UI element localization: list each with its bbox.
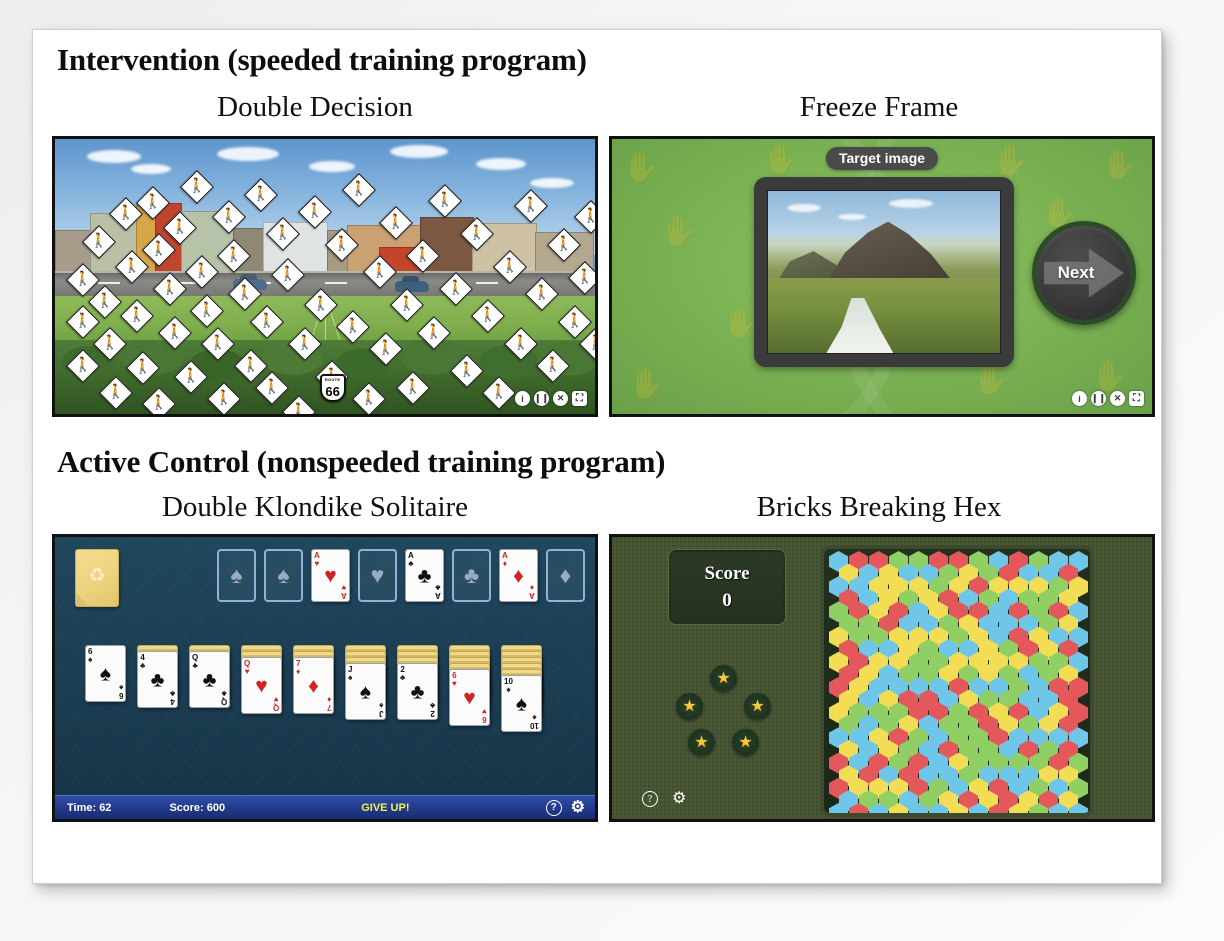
card-rank-corner: A♣	[408, 552, 414, 567]
card-rank-corner: A♦	[529, 584, 535, 599]
dd-control-cluster[interactable]: i ❙❙ ✕ ⛶	[515, 391, 587, 406]
card-rank-corner: 7♦	[296, 660, 300, 675]
tableau-card[interactable]: 4♣♣4♣	[137, 651, 178, 708]
route-66-top-text: ROUTE	[325, 377, 341, 382]
hand-icon: ✋	[628, 370, 665, 400]
pedestrian-icon: 🚶	[263, 381, 280, 395]
suit-icon: ♠	[230, 563, 242, 589]
star-badge-icon[interactable]: ★	[688, 729, 715, 756]
card-rank-corner: A♥	[341, 584, 347, 599]
card-rank-corner: J♠	[379, 702, 383, 717]
hand-icon: ✋	[762, 145, 799, 175]
bricks-icon-row: ? ⚙	[642, 791, 686, 807]
pause-icon[interactable]: ❙❙	[1091, 391, 1106, 406]
suit-icon: ♥	[371, 563, 385, 589]
star-badge-icon[interactable]: ★	[744, 693, 771, 720]
pedestrian-icon: 🚶	[512, 337, 529, 351]
pedestrian-icon: 🚶	[96, 295, 113, 309]
foundation-slot[interactable]: ♣	[452, 549, 491, 602]
card-rank-corner: 6♠	[88, 648, 92, 663]
foundation-card[interactable]: A♦♦A♦	[499, 549, 538, 602]
pedestrian-icon: 🚶	[312, 298, 329, 312]
card-pip: ♠	[516, 693, 527, 714]
pedestrian-icon: 🚶	[258, 315, 275, 329]
target-image-frame	[754, 177, 1014, 367]
card-rank-corner: 4♣	[170, 690, 175, 705]
suit-icon: ♦	[560, 563, 572, 589]
stock-pile-icon: ♻	[88, 564, 105, 587]
figure-card: Intervention (speeded training program) …	[32, 29, 1162, 884]
pedestrian-icon: 🚶	[193, 265, 210, 279]
score-label: Score	[704, 563, 749, 585]
card-pip: ♣	[151, 669, 165, 690]
card-pip: ♥	[463, 687, 475, 708]
star-glyph: ★	[738, 735, 752, 751]
tableau-card[interactable]: 6♥♥6♥	[449, 669, 490, 726]
freeze-frame-screenshot[interactable]: ✋ ✋ ✋ ✋ ✋ ✋ ✋ ✋ ✋ ✋ Target image	[609, 136, 1155, 417]
tableau-card[interactable]: 10♠♠10♠	[501, 675, 542, 732]
fullscreen-icon[interactable]: ⛶	[1129, 391, 1144, 406]
pedestrian-icon: 🚶	[172, 221, 189, 235]
pedestrian-icon: 🚶	[371, 265, 388, 279]
pedestrian-icon: 🚶	[415, 249, 432, 263]
close-icon[interactable]: ✕	[553, 391, 568, 406]
route-66-number: 66	[325, 384, 339, 399]
pedestrian-icon: 🚶	[150, 397, 167, 411]
pedestrian-icon: 🚶	[523, 199, 540, 213]
time-label: Time: 62	[55, 802, 111, 814]
star-badge-icon[interactable]: ★	[710, 665, 737, 692]
pedestrian-icon: 🚶	[118, 207, 135, 221]
foundation-slot[interactable]: ♠	[217, 549, 256, 602]
pedestrian-icon: 🚶	[290, 405, 307, 417]
pedestrian-icon: 🚶	[388, 216, 405, 230]
game-title-double-klondike-solitaire: Double Klondike Solitaire	[33, 492, 597, 522]
pedestrian-icon: 🚶	[188, 180, 205, 194]
pedestrian-icon: 🚶	[425, 326, 442, 340]
pedestrian-icon: 🚶	[128, 309, 145, 323]
route-66-shield: ROUTE 66	[320, 374, 346, 402]
pedestrian-icon: 🚶	[161, 282, 178, 296]
target-image-label: Target image	[826, 147, 938, 170]
pedestrian-icon: 🚶	[350, 183, 367, 197]
pedestrian-icon: 🚶	[91, 235, 108, 249]
score-panel: Score 0	[668, 549, 786, 625]
next-button-label: Next	[1058, 263, 1111, 283]
pedestrian-icon: 🚶	[166, 326, 183, 340]
tableau-card[interactable]: 2♣♣2♣	[397, 663, 438, 720]
pedestrian-icon: 🚶	[577, 271, 594, 285]
suit-icon: ♠	[277, 563, 289, 589]
pedestrian-icon: 🚶	[479, 309, 496, 323]
tableau-card[interactable]: 6♠♠6♠	[85, 645, 126, 702]
pedestrian-icon: 🚶	[458, 364, 475, 378]
star-badge-icon[interactable]: ★	[676, 693, 703, 720]
gear-icon[interactable]: ⚙	[571, 800, 585, 816]
info-icon[interactable]: i	[515, 391, 530, 406]
tableau-card[interactable]: Q♥♥Q♥	[241, 657, 282, 714]
pedestrian-icon: 🚶	[296, 337, 313, 351]
card-rank-corner: 4♣	[140, 654, 145, 669]
pedestrian-icon: 🚶	[404, 381, 421, 395]
pedestrian-icon: 🚶	[582, 210, 598, 224]
pedestrian-icon: 🚶	[280, 268, 297, 282]
pedestrian-icon: 🚶	[101, 337, 118, 351]
hand-icon: ✋	[992, 147, 1029, 177]
star-glyph: ★	[682, 699, 696, 715]
pedestrian-icon: 🚶	[447, 282, 464, 296]
pedestrian-icon: 🚶	[274, 227, 291, 241]
star-glyph: ★	[694, 735, 708, 751]
card-rank-corner: Q♥	[244, 660, 250, 675]
pause-icon[interactable]: ❙❙	[534, 391, 549, 406]
pedestrian-icon: 🚶	[145, 196, 162, 210]
card-rank-corner: A♦	[502, 552, 508, 567]
game-title-double-decision: Double Decision	[33, 92, 597, 122]
next-button[interactable]: Next	[1032, 221, 1136, 325]
card-rank-corner: J♠	[348, 666, 352, 681]
pedestrian-icon: 🚶	[220, 210, 237, 224]
pedestrian-icon: 🚶	[469, 227, 486, 241]
solitaire-status-icons: ? ⚙	[546, 800, 595, 816]
pedestrian-icon: 🚶	[182, 370, 199, 384]
card-rank-corner: Q♣	[221, 690, 227, 705]
section-heading-active-control: Active Control (nonspeeded training prog…	[33, 444, 1161, 480]
card-pip: ♠	[360, 681, 371, 702]
pedestrian-icon: 🚶	[566, 315, 583, 329]
pedestrian-icon: 🚶	[74, 359, 91, 373]
pedestrian-icon: 🚶	[307, 205, 324, 219]
score-label: Score: 600	[111, 802, 225, 814]
pedestrian-icon: 🚶	[587, 337, 598, 351]
game-title-bricks-breaking-hex: Bricks Breaking Hex	[597, 492, 1161, 522]
pedestrian-icon: 🚶	[123, 260, 140, 274]
dd-car-right	[395, 281, 429, 292]
card-pip: ♣	[203, 669, 217, 690]
card-pip: ♥	[324, 565, 336, 586]
score-value: 0	[722, 590, 732, 612]
target-photo	[767, 190, 1001, 354]
pedestrian-icon: 🚶	[74, 315, 91, 329]
foundation-card[interactable]: A♥♥A♥	[311, 549, 350, 602]
pedestrian-icon: 🚶	[555, 238, 572, 252]
star-badge-icon[interactable]: ★	[732, 729, 759, 756]
pedestrian-icon: 🚶	[74, 273, 91, 287]
card-rank-corner: 2♣	[400, 666, 405, 681]
pedestrian-icon: 🚶	[215, 392, 232, 406]
pedestrian-icon: 🚶	[134, 361, 151, 375]
card-pip: ♣	[418, 565, 432, 586]
card-pip: ♥	[255, 675, 267, 696]
foundation-card[interactable]: A♣♣A♣	[405, 549, 444, 602]
section-heading-intervention: Intervention (speeded training program)	[33, 42, 1161, 78]
give-up-button[interactable]: GIVE UP!	[361, 802, 409, 814]
help-icon[interactable]: ?	[546, 800, 562, 816]
pedestrian-icon: 🚶	[344, 320, 361, 334]
solitaire-screenshot[interactable]: ♻ ♠♠A♥♥A♥♥A♣♣A♣♣A♦♦A♦♦ 6♠♠6♠4♣♣4♣Q♣♣Q♣Q♥…	[52, 534, 598, 822]
star-glyph: ★	[750, 699, 764, 715]
card-rank-corner: Q♣	[192, 654, 198, 669]
pedestrian-icon: 🚶	[533, 287, 550, 301]
hand-icon: ✋	[660, 217, 697, 247]
foundation-slot[interactable]: ♦	[546, 549, 585, 602]
info-icon[interactable]: i	[1072, 391, 1087, 406]
tableau-card[interactable]: 7♦♦7♦	[293, 657, 334, 714]
hand-icon: ✋	[622, 153, 659, 183]
double-decision-screenshot[interactable]: 🚶🚶🚶🚶🚶🚶🚶🚶🚶🚶🚶🚶🚶🚶🚶🚶🚶🚶🚶🚶🚶🚶🚶🚶🚶🚶🚶🚶🚶🚶🚶🚶🚶🚶🚶🚶🚶🚶🚶🚶…	[52, 136, 598, 417]
hand-icon: ✋	[972, 366, 1009, 396]
figure-page: Intervention (speeded training program) …	[0, 0, 1224, 941]
card-rank-corner: 6♥	[452, 672, 457, 687]
pedestrian-icon: 🚶	[150, 243, 167, 257]
pedestrian-icon: 🚶	[199, 304, 216, 318]
card-rank-corner: 6♥	[482, 708, 487, 723]
card-rank-corner: A♣	[435, 584, 441, 599]
card-rank-corner: 2♣	[430, 702, 435, 717]
pedestrian-icon: 🚶	[253, 188, 270, 202]
help-icon[interactable]: ?	[642, 791, 658, 807]
pedestrian-icon: 🚶	[436, 194, 453, 208]
gear-icon[interactable]: ⚙	[672, 791, 686, 807]
ff-control-cluster[interactable]: i ❙❙ ✕ ⛶	[1072, 391, 1144, 406]
pedestrian-icon: 🚶	[490, 386, 507, 400]
fullscreen-icon[interactable]: ⛶	[572, 391, 587, 406]
card-pip: ♣	[411, 681, 425, 702]
solitaire-status-bar: Time: 62 Score: 600 GIVE UP! ? ⚙	[55, 795, 595, 819]
card-rank-corner: 7♦	[327, 696, 331, 711]
pedestrian-icon: 🚶	[242, 359, 259, 373]
card-rank-corner: 10♠	[530, 714, 539, 729]
stock-pile[interactable]: ♻	[75, 549, 119, 607]
pedestrian-icon: 🚶	[209, 337, 226, 351]
pedestrian-icon: 🚶	[107, 386, 124, 400]
tableau-card[interactable]: J♠♠J♠	[345, 663, 386, 720]
pedestrian-icon: 🚶	[334, 238, 351, 252]
foundation-slot[interactable]: ♥	[358, 549, 397, 602]
pedestrian-icon: 🚶	[226, 249, 243, 263]
pedestrian-icon: 🚶	[544, 359, 561, 373]
pedestrian-icon: 🚶	[398, 298, 415, 312]
pedestrian-icon: 🚶	[377, 342, 394, 356]
hand-icon: ✋	[1101, 151, 1138, 181]
card-rank-corner: Q♥	[273, 696, 279, 711]
card-pip: ♦	[308, 675, 319, 696]
pedestrian-icon: 🚶	[236, 287, 253, 301]
foundation-slot[interactable]: ♠	[264, 549, 303, 602]
hex-game-board[interactable]	[820, 545, 1094, 817]
card-rank-corner: 6♠	[119, 684, 123, 699]
bricks-breaking-hex-screenshot[interactable]: Score 0 ★★★★★ ? ⚙	[609, 534, 1155, 822]
card-rank-corner: A♥	[314, 552, 320, 567]
suit-icon: ♣	[464, 563, 479, 589]
game-title-freeze-frame: Freeze Frame	[597, 92, 1161, 122]
pedestrian-icon: 🚶	[501, 260, 518, 274]
card-rank-corner: 10♠	[504, 678, 513, 693]
pedestrian-icon: 🚶	[361, 392, 378, 406]
card-pip: ♠	[100, 663, 111, 684]
close-icon[interactable]: ✕	[1110, 391, 1125, 406]
card-pip: ♦	[513, 565, 524, 586]
hand-icon: ✋	[1091, 362, 1128, 392]
tableau-card[interactable]: Q♣♣Q♣	[189, 651, 230, 708]
star-glyph: ★	[716, 671, 730, 687]
